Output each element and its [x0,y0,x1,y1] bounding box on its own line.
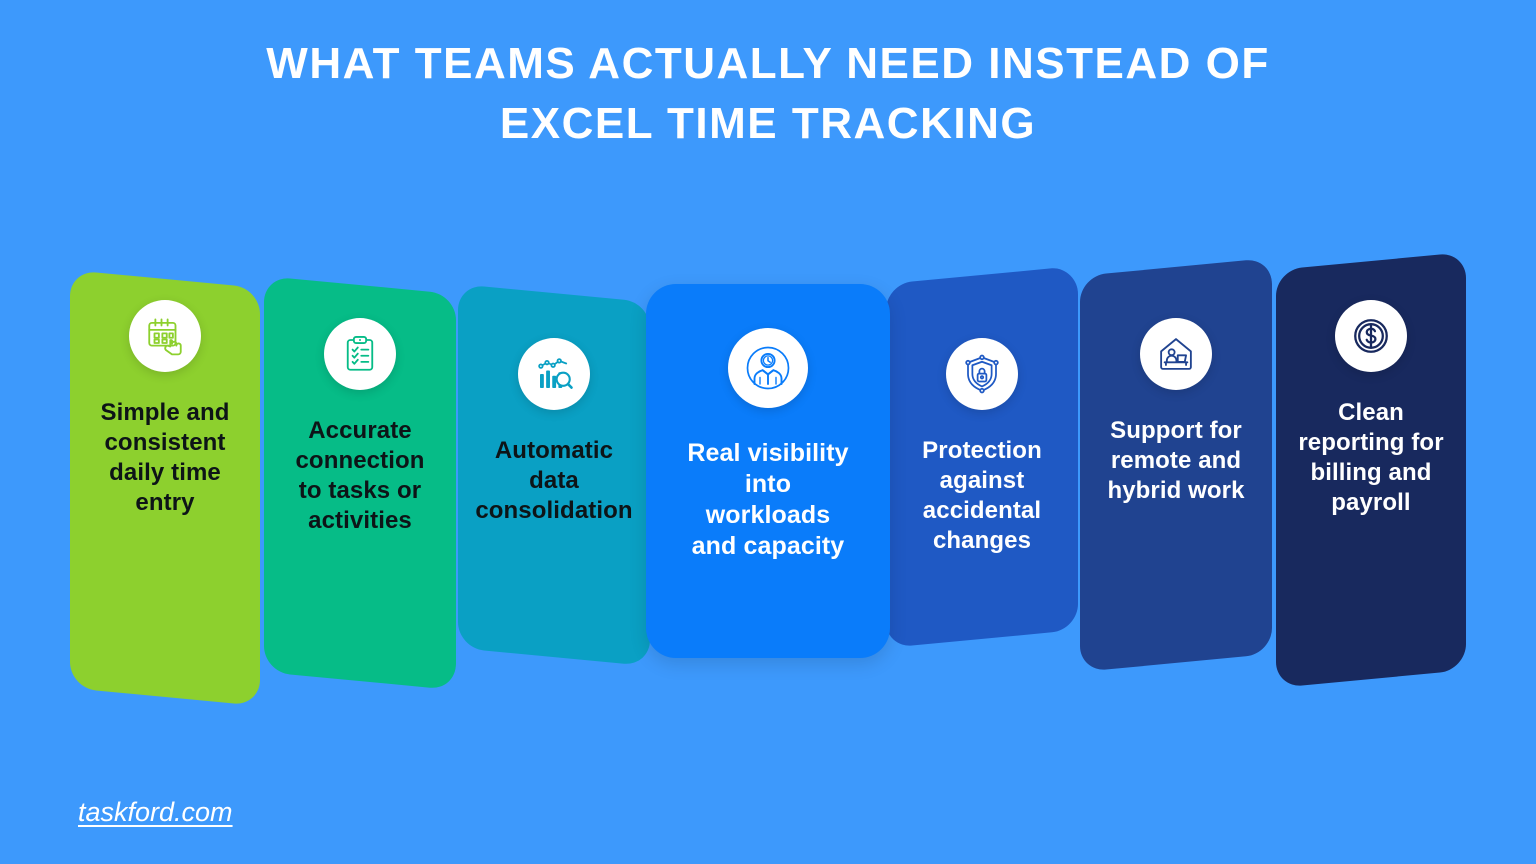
card-icon-badge [728,328,808,408]
shield-lock-icon [961,353,1003,395]
card-support-remote-hybrid-work[interactable]: Support for remote and hybrid work [1080,258,1272,690]
card-automatic-data-consolidation[interactable]: Automatic data consolidation [458,268,650,668]
card-real-visibility-workloads[interactable]: Real visibility into workloads and capac… [646,284,890,658]
card-icon-badge [946,338,1018,410]
infographic-canvas: WHAT TEAMS ACTUALLY NEED INSTEAD OF EXCE… [0,0,1536,864]
card-label: Support for remote and hybrid work [1101,416,1250,506]
card-simple-daily-time-entry[interactable]: Simple and consistent daily time entry [70,248,260,710]
card-icon-badge [518,338,590,410]
card-label: Protection against accidental changes [916,436,1048,556]
footer-website-link[interactable]: taskford.com [78,797,233,827]
card-clean-reporting-billing-payroll[interactable]: Clean reporting for billing and payroll [1276,248,1466,710]
card-label: Accurate connection to tasks or activiti… [289,416,430,536]
footer: taskford.com [78,797,233,828]
card-label: Automatic data consolidation [469,436,638,526]
home-office-icon [1155,333,1197,375]
card-icon-badge [324,318,396,390]
card-label: Simple and consistent daily time entry [94,398,235,518]
card-label: Real visibility into workloads and capac… [681,438,854,562]
clipboard-checklist-icon [339,333,381,375]
dollar-coin-icon [1350,315,1392,357]
card-label: Clean reporting for billing and payroll [1292,398,1449,518]
calendar-click-icon [144,315,186,357]
card-icon-badge [1335,300,1407,372]
card-accurate-connection-tasks[interactable]: Accurate connection to tasks or activiti… [264,258,456,690]
person-clock-icon [744,344,792,392]
card-fan: Simple and consistent daily time entry [0,0,1536,864]
card-protection-accidental-changes[interactable]: Protection against accidental changes [886,268,1078,668]
card-icon-badge [129,300,201,372]
card-icon-badge [1140,318,1212,390]
bar-chart-search-icon [533,353,575,395]
